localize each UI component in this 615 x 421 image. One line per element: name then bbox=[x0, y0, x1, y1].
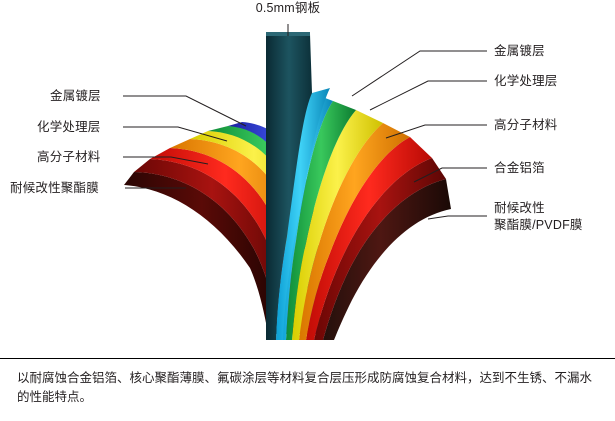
leader-right-1 bbox=[352, 51, 487, 96]
leader-left-1 bbox=[123, 96, 246, 126]
label-steel-plate: 0.5mm钢板 bbox=[232, 0, 344, 17]
label-left-weather-resistant-polyester: 耐候改性聚酯膜 bbox=[10, 180, 99, 197]
caption-text: 以耐腐蚀合金铝箔、核心聚酯薄膜、氟碳涂层等材料复合层压形成防腐蚀复合材料，达到不… bbox=[17, 369, 597, 408]
label-right-alloy-aluminum-foil: 合金铝箔 bbox=[494, 160, 545, 177]
leader-right-2 bbox=[370, 81, 487, 110]
leader-right-5 bbox=[428, 216, 487, 219]
label-right-chemical-treatment: 化学处理层 bbox=[494, 73, 558, 90]
divider bbox=[0, 358, 615, 359]
label-left-polymer-material: 高分子材料 bbox=[37, 149, 101, 166]
diagram-page: 0.5mm钢板 金属镀层 化学处理层 高分子材料 耐候改性聚酯膜 金属镀层 化学… bbox=[0, 0, 615, 421]
label-left-metal-coating: 金属镀层 bbox=[50, 88, 101, 105]
label-right-weather-resistant-film: 耐候改性 聚酯膜/PVDF膜 bbox=[494, 200, 583, 234]
label-right-metal-coating: 金属镀层 bbox=[494, 43, 545, 60]
label-left-chemical-treatment: 化学处理层 bbox=[37, 119, 101, 136]
label-right-polymer-material: 高分子材料 bbox=[494, 117, 558, 134]
